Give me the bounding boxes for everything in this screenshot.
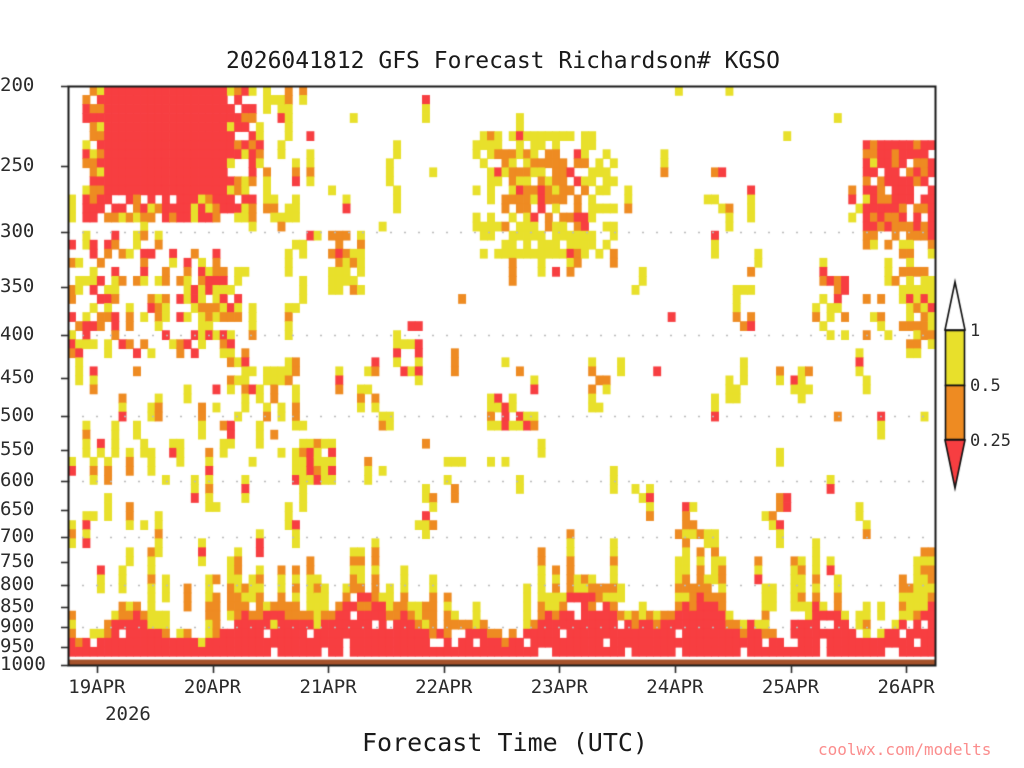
y-axis-tick-600: 600: [0, 471, 60, 490]
y-axis-tick-450: 450: [0, 368, 60, 387]
y-axis-tick-550: 550: [0, 440, 60, 459]
y-axis-tick-750: 750: [0, 552, 60, 571]
x-axis-tick-21APR: 21APR: [268, 676, 388, 696]
x-tick-label: 20APR: [184, 676, 241, 698]
y-tick-label: 600: [0, 469, 34, 491]
x-tick-label: 22APR: [415, 676, 472, 698]
x-axis-year-label: 2026: [68, 703, 188, 725]
x-axis-tick-24APR: 24APR: [615, 676, 735, 696]
y-tick-label: 400: [0, 323, 34, 345]
y-tick-label: 800: [0, 573, 34, 595]
x-tick-label: 24APR: [646, 676, 703, 698]
y-tick-label: 250: [0, 154, 34, 176]
richardson-heatmap-canvas: [0, 0, 1024, 768]
x-axis-tick-22APR: 22APR: [384, 676, 504, 696]
x-axis-tick-25APR: 25APR: [731, 676, 851, 696]
colorbar-label-1: 1: [970, 321, 980, 341]
watermark: coolwx.com/modelts: [818, 742, 991, 758]
y-axis-tick-250: 250: [0, 156, 60, 175]
x-axis-tick-23APR: 23APR: [499, 676, 619, 696]
page-title: 2026041812 GFS Forecast Richardson# KGSO: [0, 50, 1006, 73]
y-axis-tick-700: 700: [0, 527, 60, 546]
y-axis-tick-850: 850: [0, 597, 60, 616]
y-axis-tick-400: 400: [0, 325, 60, 344]
y-tick-label: 500: [0, 404, 34, 426]
y-tick-label: 650: [0, 498, 34, 520]
y-tick-label: 450: [0, 366, 34, 388]
x-tick-label: 25APR: [762, 676, 819, 698]
y-axis-tick-1000: 1000: [0, 655, 60, 674]
y-tick-label: 350: [0, 275, 34, 297]
x-tick-label: 26APR: [877, 676, 934, 698]
y-axis-tick-900: 900: [0, 617, 60, 636]
y-tick-label: 850: [0, 595, 34, 617]
y-axis-tick-650: 650: [0, 500, 60, 519]
y-tick-label: 200: [0, 74, 34, 96]
y-axis-tick-200: 200: [0, 76, 60, 95]
y-tick-label: 300: [0, 220, 34, 242]
y-tick-label: 1000: [0, 653, 46, 675]
y-tick-label: 750: [0, 550, 34, 572]
y-axis-tick-800: 800: [0, 575, 60, 594]
x-axis-tick-20APR: 20APR: [153, 676, 273, 696]
chart-figure: 2026041812 GFS Forecast Richardson# KGSO…: [0, 0, 1024, 768]
colorbar-label-0_25: 0.25: [970, 431, 1011, 451]
x-axis-tick-19APR: 19APR: [37, 676, 157, 696]
y-axis-tick-300: 300: [0, 222, 60, 241]
y-tick-label: 550: [0, 438, 34, 460]
y-axis-tick-350: 350: [0, 277, 60, 296]
y-tick-label: 700: [0, 525, 34, 547]
x-axis-tick-26APR: 26APR: [846, 676, 966, 696]
colorbar-label-0_5: 0.5: [970, 376, 1001, 396]
y-axis-tick-500: 500: [0, 406, 60, 425]
x-tick-label: 21APR: [299, 676, 356, 698]
x-tick-label: 23APR: [531, 676, 588, 698]
x-tick-label: 19APR: [68, 676, 125, 698]
